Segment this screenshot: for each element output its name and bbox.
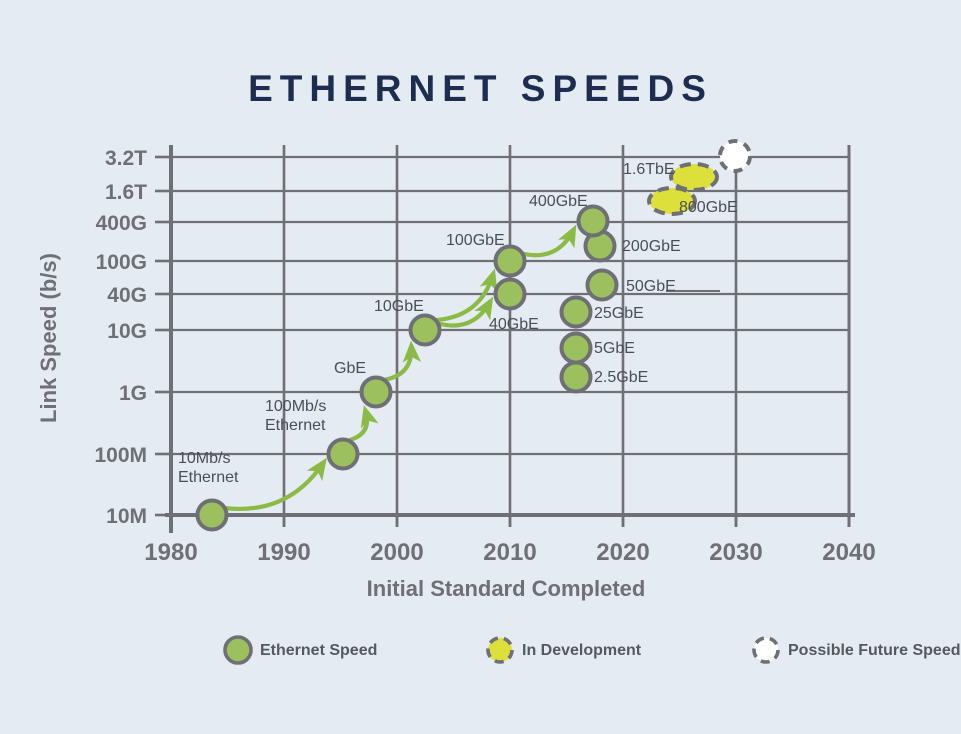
marker-2.5GbE[interactable] [562,363,591,392]
legend-label-ethernet-speed: Ethernet Speed [260,642,377,659]
x-axis-title: Initial Standard Completed [367,576,646,601]
y-tick-label-100M: 100M [94,444,147,467]
x-tick-label-1980: 1980 [144,539,197,566]
chart-page: ETHERNET SPEEDS 3.2T1.6T400G100G40G10G1G… [0,0,961,734]
point-label-2.5GbE: 2.5GbE [594,369,648,386]
point-label-10GbE: 10GbE [374,298,424,315]
marker-GbE[interactable] [362,378,391,407]
point-label-5GbE: 5GbE [594,340,635,357]
data-point-markers [198,141,751,530]
marker-10GbE[interactable] [411,316,440,345]
y-axis-title: Link Speed (b/s) [36,253,61,423]
y-axis-ticks [155,157,171,515]
marker-10Mb-s-Ethernet[interactable] [198,501,227,530]
point-label-GbE: GbE [334,360,366,377]
marker-1.6TbE[interactable] [671,164,717,190]
y-tick-label-10G: 10G [107,320,147,343]
marker-25GbE[interactable] [562,298,591,327]
x-tick-label-2000: 2000 [370,539,423,566]
x-tick-label-2020: 2020 [596,539,649,566]
legend-marker-possible-future-speed [754,638,778,662]
y-axis-tick-labels: 3.2T1.6T400G100G40G10G1G100M10M [94,147,147,528]
y-tick-label-1G: 1G [119,382,147,405]
x-tick-label-2040: 2040 [822,539,875,566]
point-label-100Mb-s-Ethernet: 100Mb/sEthernet [265,398,326,434]
y-tick-label-10M: 10M [106,505,147,528]
point-label-400GbE: 400GbE [529,193,588,210]
ethernet-speeds-chart: 3.2T1.6T400G100G40G10G1G100M10M 19801990… [0,0,961,734]
marker-400GbE[interactable] [579,207,608,236]
marker-100Mb-s-Ethernet[interactable] [329,440,358,469]
point-label-100GbE: 100GbE [446,232,505,249]
point-label-25GbE: 25GbE [594,305,644,322]
x-tick-label-2010: 2010 [483,539,536,566]
chart-legend: Ethernet SpeedIn DevelopmentPossible Fut… [225,637,960,663]
point-label-10Mb-s-Ethernet: 10Mb/sEthernet [178,450,239,486]
marker-100GbE[interactable] [496,247,525,276]
x-tick-label-1990: 1990 [257,539,310,566]
legend-marker-ethernet-speed [225,637,251,663]
y-tick-label-3.2T: 3.2T [105,147,147,170]
y-tick-label-100G: 100G [96,251,147,274]
growth-arrow-GbE-to-10GbE [386,347,411,379]
marker-5GbE[interactable] [562,334,591,363]
point-label-40GbE: 40GbE [489,316,539,333]
marker-50GbE[interactable] [588,271,617,300]
y-tick-label-40G: 40G [107,284,147,307]
growth-arrow-10MbsEthernet-to-100MbsEthernet [227,463,324,509]
point-label-1.6TbE: 1.6TbE [623,161,675,178]
x-axis-tick-labels: 1980199020002010202020302040 [144,539,875,566]
legend-label-in-development: In Development [522,642,642,659]
marker-possible-future-speed[interactable] [720,141,750,171]
legend-label-possible-future-speed: Possible Future Speed [788,642,960,659]
y-tick-label-400G: 400G [96,212,147,235]
growth-arrow-100GbE-to-400GbE [524,231,573,256]
y-tick-label-1.6T: 1.6T [105,181,147,204]
legend-marker-in-development [488,638,512,662]
point-label-200GbE: 200GbE [622,238,681,255]
point-label-50GbE: 50GbE [626,278,676,295]
growth-arrow-100MbsEthernet-to-GbE [351,411,367,439]
point-label-800GbE: 800GbE [679,199,738,216]
marker-40GbE[interactable] [496,280,525,309]
x-tick-label-2030: 2030 [709,539,762,566]
